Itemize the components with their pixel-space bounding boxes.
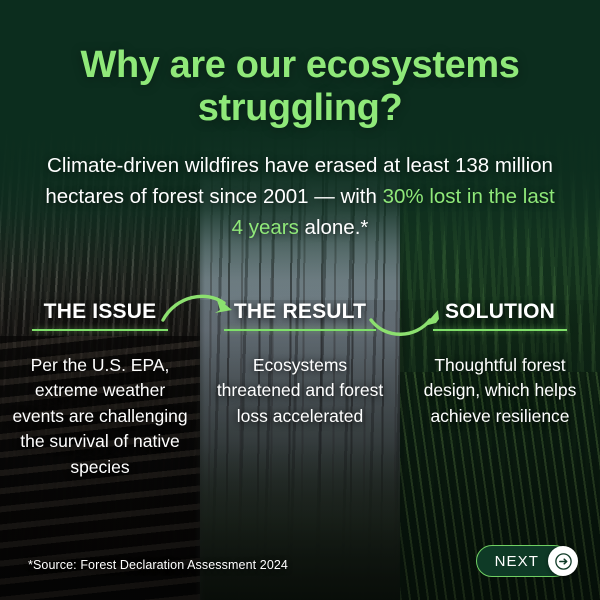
- column-underline-issue: [32, 329, 168, 331]
- column-solution: SOLUTION Thoughtful forest design, which…: [400, 300, 600, 480]
- column-body-issue: Per the U.S. EPA, extreme weather events…: [12, 353, 188, 480]
- three-column-section: THE ISSUE Per the U.S. EPA, extreme weat…: [0, 300, 600, 480]
- content-layer: Why are our ecosystems struggling? Clima…: [0, 0, 600, 600]
- column-result: THE RESULT Ecosystems threatened and for…: [200, 300, 400, 480]
- infographic-card: Why are our ecosystems struggling? Clima…: [0, 0, 600, 600]
- source-citation: *Source: Forest Declaration Assessment 2…: [28, 558, 288, 572]
- column-heading-solution: SOLUTION: [445, 300, 555, 324]
- column-heading-result: THE RESULT: [234, 300, 366, 324]
- arrow-right-icon[interactable]: [548, 546, 578, 576]
- next-button[interactable]: NEXT: [476, 544, 578, 578]
- column-body-result: Ecosystems threatened and forest loss ac…: [212, 353, 388, 429]
- column-issue: THE ISSUE Per the U.S. EPA, extreme weat…: [0, 300, 200, 480]
- column-heading-issue: THE ISSUE: [44, 300, 157, 324]
- page-title: Why are our ecosystems struggling?: [0, 44, 600, 129]
- column-body-solution: Thoughtful forest design, which helps ac…: [412, 353, 588, 429]
- column-underline-solution: [433, 329, 567, 331]
- column-underline-result: [224, 329, 376, 331]
- next-button-label: NEXT: [495, 553, 539, 570]
- subtitle-part-two: alone.*: [299, 216, 369, 239]
- subtitle: Climate-driven wildfires have erased at …: [40, 150, 560, 243]
